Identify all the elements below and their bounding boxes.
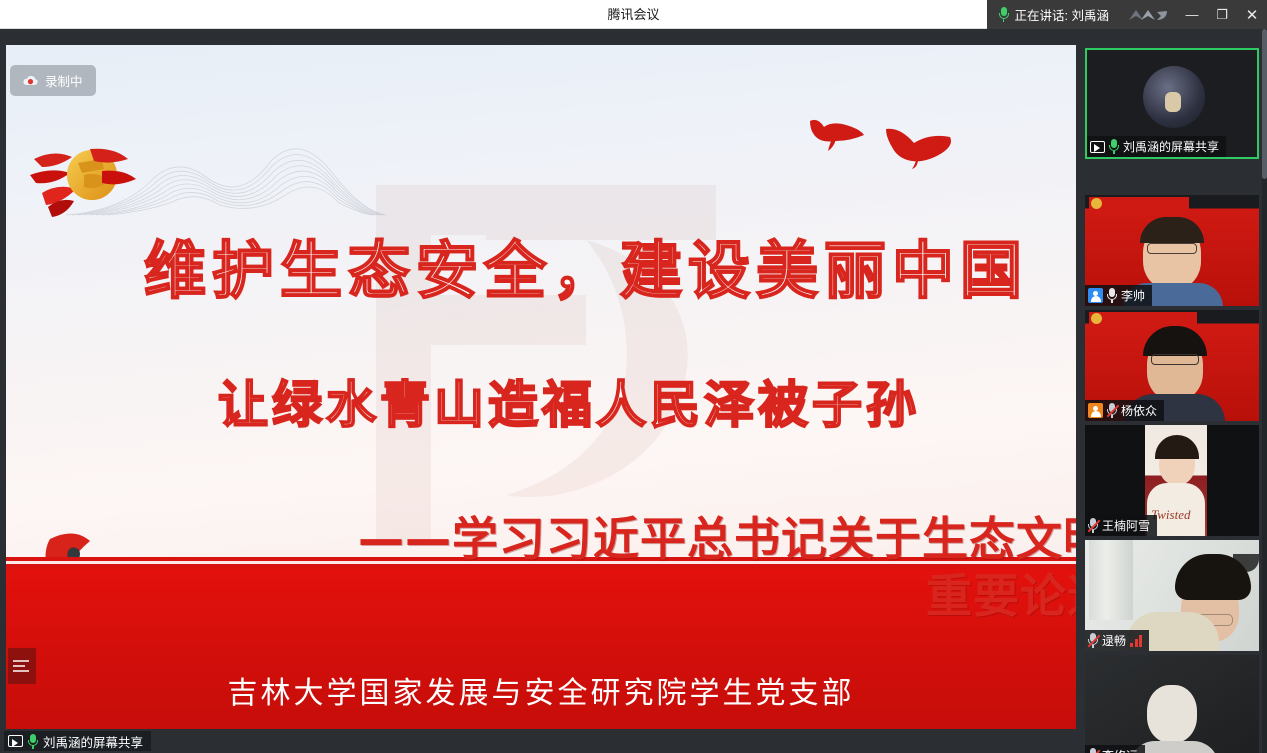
video-banner bbox=[1089, 312, 1197, 326]
participant-tile[interactable]: 杨依众 bbox=[1085, 310, 1259, 421]
participant-label: 逯畅 bbox=[1085, 630, 1149, 651]
person-icon bbox=[1088, 288, 1103, 303]
dove-icon bbox=[806, 115, 868, 153]
participant-tile[interactable]: 逯畅 bbox=[1085, 540, 1259, 651]
slide-subtitle: 让绿水青山造福人民泽被子孙 bbox=[218, 365, 920, 437]
participant-video bbox=[1085, 655, 1259, 753]
shared-screen-stage[interactable]: 维护生态安全，建设美丽中国 让绿水青山造福人民泽被子孙 ——学习习近平总书记关于… bbox=[0, 29, 1081, 729]
participant-name: 杨依众 bbox=[1121, 402, 1157, 419]
window-title-bar: 腾讯会议 正在讲话: 刘禹涵 — ❐ ✕ bbox=[0, 0, 1267, 29]
participant-label: 王楠阿雪 bbox=[1085, 515, 1157, 536]
recording-label: 录制中 bbox=[45, 71, 83, 90]
participants-panel[interactable]: 刘禹涵的屏幕共享 李帅 bbox=[1081, 29, 1267, 753]
network-quality-icon bbox=[1127, 7, 1169, 23]
avatar-glasses bbox=[1151, 354, 1199, 365]
microphone-icon bbox=[1107, 288, 1117, 303]
participant-tile[interactable]: 李帅 bbox=[1085, 195, 1259, 306]
bottom-status-bar: 刘禹涵的屏幕共享 bbox=[0, 729, 1267, 753]
active-speaker-label: 正在讲话: 刘禹涵 bbox=[1015, 5, 1109, 24]
title-bar-signal-icons bbox=[1119, 7, 1177, 23]
slide-footer: 吉林大学国家发展与安全研究院学生党支部 bbox=[6, 668, 1076, 712]
avatar-shirt-text: Twisted bbox=[1151, 507, 1203, 523]
restore-button[interactable]: ❐ bbox=[1207, 0, 1237, 29]
video-logo bbox=[1091, 198, 1102, 209]
panel-scrollbar-thumb[interactable] bbox=[1262, 29, 1267, 179]
party-emblem-icon bbox=[28, 141, 138, 219]
participant-name: 王楠阿雪 bbox=[1102, 517, 1150, 534]
participant-label: 刘禹涵的屏幕共享 bbox=[1087, 136, 1226, 157]
person-icon bbox=[1088, 403, 1103, 418]
video-logo bbox=[1091, 313, 1102, 324]
participant-name: 李修远 bbox=[1102, 747, 1138, 753]
participant-name: 逯畅 bbox=[1102, 632, 1126, 649]
avatar-detail bbox=[1165, 92, 1181, 112]
panel-scrollbar[interactable] bbox=[1262, 29, 1267, 753]
title-bar-right-group: 正在讲话: 刘禹涵 — ❐ ✕ bbox=[987, 0, 1267, 29]
microphone-muted-icon bbox=[1088, 518, 1098, 533]
minimize-button[interactable]: — bbox=[1177, 0, 1207, 29]
microphone-icon bbox=[999, 7, 1009, 22]
active-speaker-indicator: 正在讲话: 刘禹涵 bbox=[995, 0, 1119, 29]
presentation-slide: 维护生态安全，建设美丽中国 让绿水青山造福人民泽被子孙 ——学习习近平总书记关于… bbox=[6, 45, 1076, 729]
participant-tile[interactable]: 刘禹涵的屏幕共享 bbox=[1085, 48, 1259, 159]
microphone-muted-icon bbox=[1088, 633, 1098, 648]
recording-badge[interactable]: 录制中 bbox=[10, 65, 96, 96]
screen-share-status-chip[interactable]: 刘禹涵的屏幕共享 bbox=[4, 731, 151, 751]
background-wall bbox=[1089, 540, 1133, 620]
dove-icon bbox=[884, 123, 956, 171]
participant-tile[interactable]: Twisted 王楠阿雪 bbox=[1085, 425, 1259, 536]
participant-tile[interactable]: 李修远 bbox=[1085, 655, 1259, 753]
screen-share-icon bbox=[8, 735, 23, 747]
participant-label: 李帅 bbox=[1085, 285, 1152, 306]
microphone-muted-icon bbox=[1088, 748, 1098, 753]
slide-title: 维护生态安全，建设美丽中国 bbox=[144, 220, 1028, 310]
avatar-hair bbox=[1140, 217, 1204, 243]
slide-outline-toggle[interactable] bbox=[8, 648, 36, 684]
participant-name: 李帅 bbox=[1121, 287, 1145, 304]
participant-label: 李修远 bbox=[1085, 745, 1145, 753]
signal-bars-icon bbox=[1130, 635, 1142, 647]
close-button[interactable]: ✕ bbox=[1237, 0, 1267, 29]
participant-name: 刘禹涵的屏幕共享 bbox=[1123, 138, 1219, 155]
participant-label: 杨依众 bbox=[1085, 400, 1164, 421]
microphone-icon bbox=[28, 734, 38, 749]
avatar-glasses bbox=[1147, 243, 1197, 254]
screen-share-icon bbox=[1090, 141, 1105, 153]
avatar-face bbox=[1147, 685, 1197, 743]
screen-share-label: 刘禹涵的屏幕共享 bbox=[43, 732, 143, 751]
microphone-icon bbox=[1109, 139, 1119, 154]
video-banner bbox=[1089, 197, 1189, 211]
microphone-muted-icon bbox=[1107, 403, 1117, 418]
slide-source-line-2: 重要论述 bbox=[926, 560, 1076, 626]
avatar-hair bbox=[1143, 326, 1207, 356]
window-controls: — ❐ ✕ bbox=[1177, 0, 1267, 29]
cloud-record-icon bbox=[23, 75, 38, 86]
